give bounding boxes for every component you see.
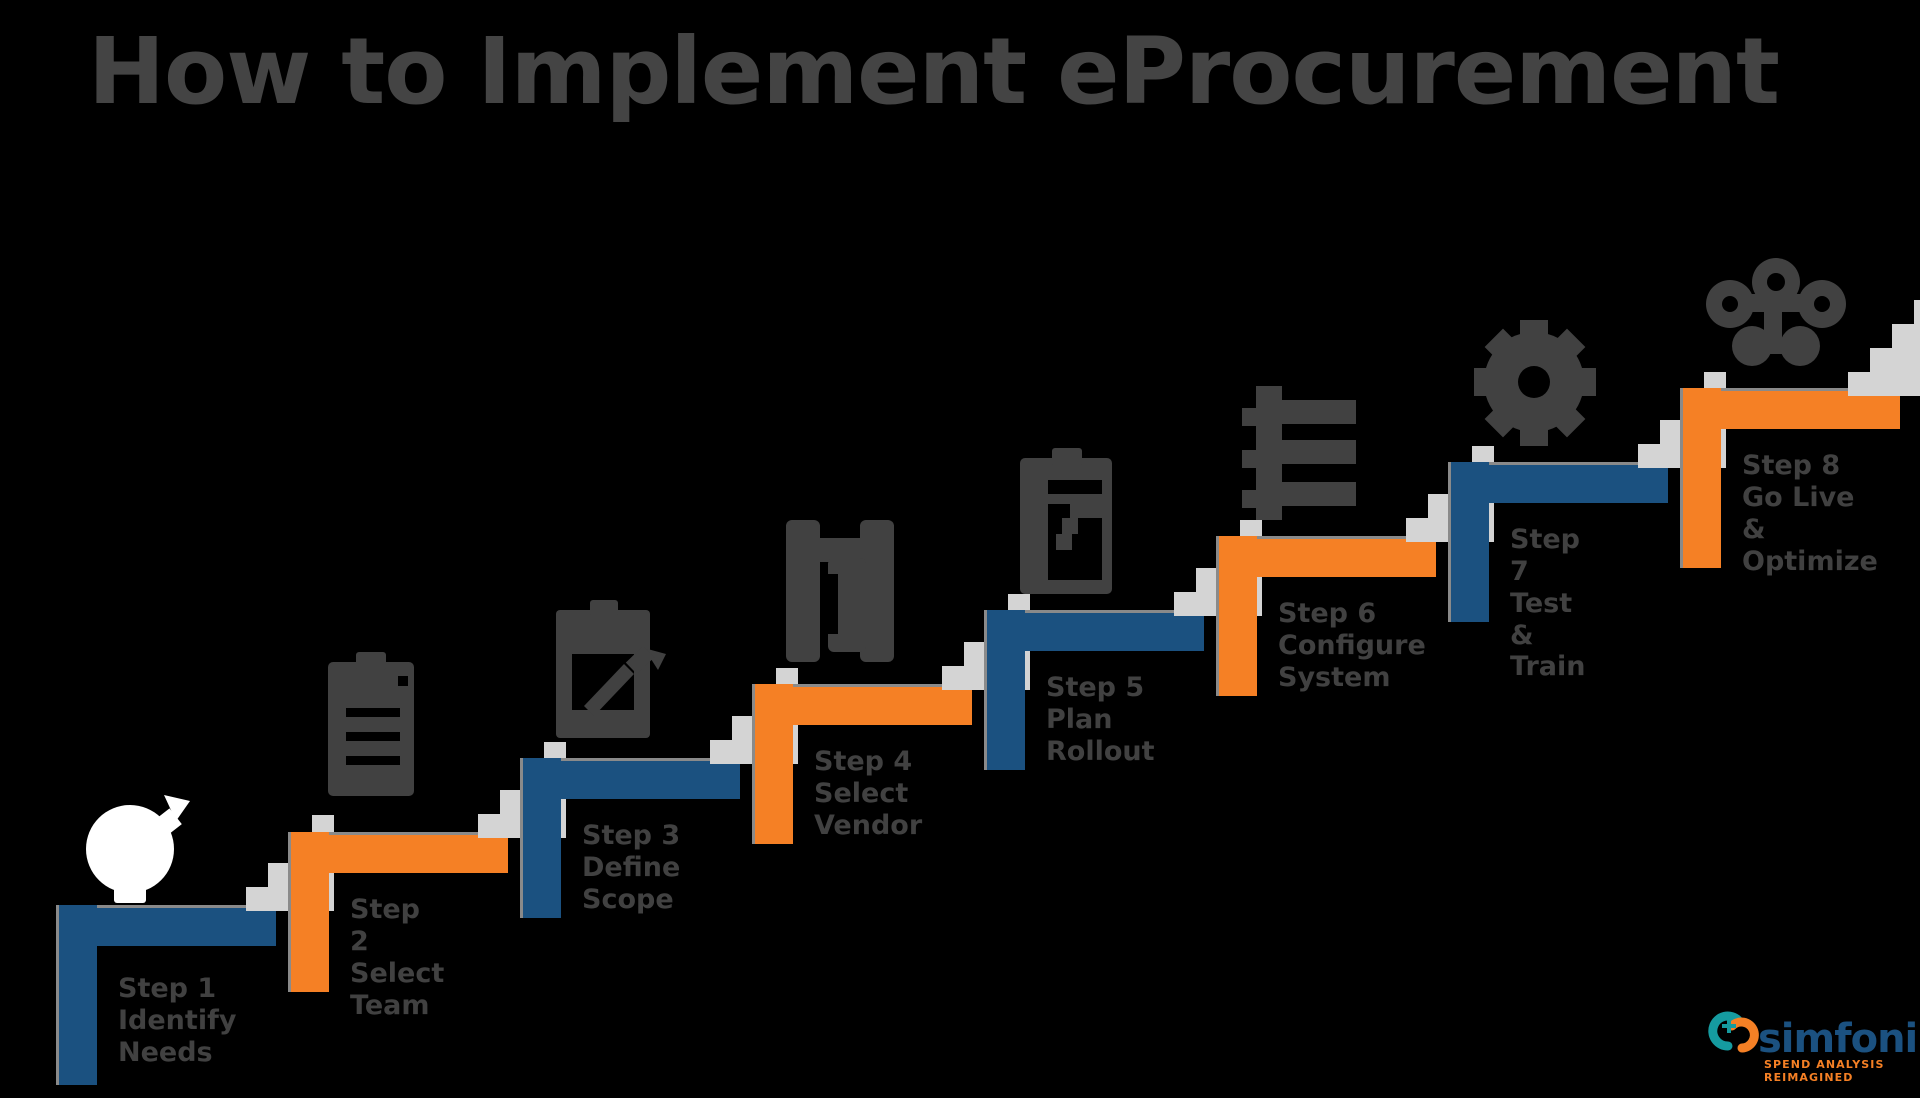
logo-wordmark: simfoni bbox=[1758, 1016, 1917, 1062]
logo-tagline: SPEND ANALYSIS REIMAGINED bbox=[1764, 1058, 1896, 1084]
step-7-label: Step 7 Test & Train bbox=[1510, 524, 1585, 683]
checklist-clipboard-icon bbox=[1010, 442, 1130, 598]
gear-icon bbox=[1472, 314, 1602, 454]
step-3-leg bbox=[520, 758, 561, 918]
step-4-leg bbox=[752, 684, 793, 844]
task-list-icon bbox=[1238, 378, 1368, 528]
step-8-leg bbox=[1680, 388, 1721, 568]
step-1-leg bbox=[56, 905, 97, 1085]
step-4-label: Step 4 Select Vendor bbox=[814, 746, 922, 842]
network-people-icon bbox=[1702, 242, 1852, 382]
document-edit-icon bbox=[548, 596, 678, 746]
step-5-leg bbox=[984, 610, 1025, 770]
step-2-label: Step 2 Select Team bbox=[350, 894, 444, 1021]
page-title: How to Implement eProcurement bbox=[88, 18, 1779, 125]
handshake-icon bbox=[776, 512, 906, 672]
step-8-label: Step 8 Go Live & Optimize bbox=[1742, 450, 1878, 577]
simfoni-mark-icon bbox=[1698, 1006, 1760, 1066]
step-3-label: Step 3 Define Scope bbox=[582, 820, 680, 916]
step-6-label: Step 6 Configure System bbox=[1278, 598, 1426, 694]
clipboard-icon bbox=[318, 650, 428, 810]
step-7-leg bbox=[1448, 462, 1489, 622]
brand-logo[interactable]: simfoni SPEND ANALYSIS REIMAGINED bbox=[1698, 1002, 1896, 1080]
lightbulb-icon bbox=[72, 787, 212, 907]
infographic-canvas: How to Implement eProcurement Step 1 Ide… bbox=[0, 0, 1920, 1098]
step-1-label: Step 1 Identify Needs bbox=[118, 973, 236, 1069]
step-2-leg bbox=[288, 832, 329, 992]
step-5-label: Step 5 Plan Rollout bbox=[1046, 672, 1155, 768]
step-6-leg bbox=[1216, 536, 1257, 696]
